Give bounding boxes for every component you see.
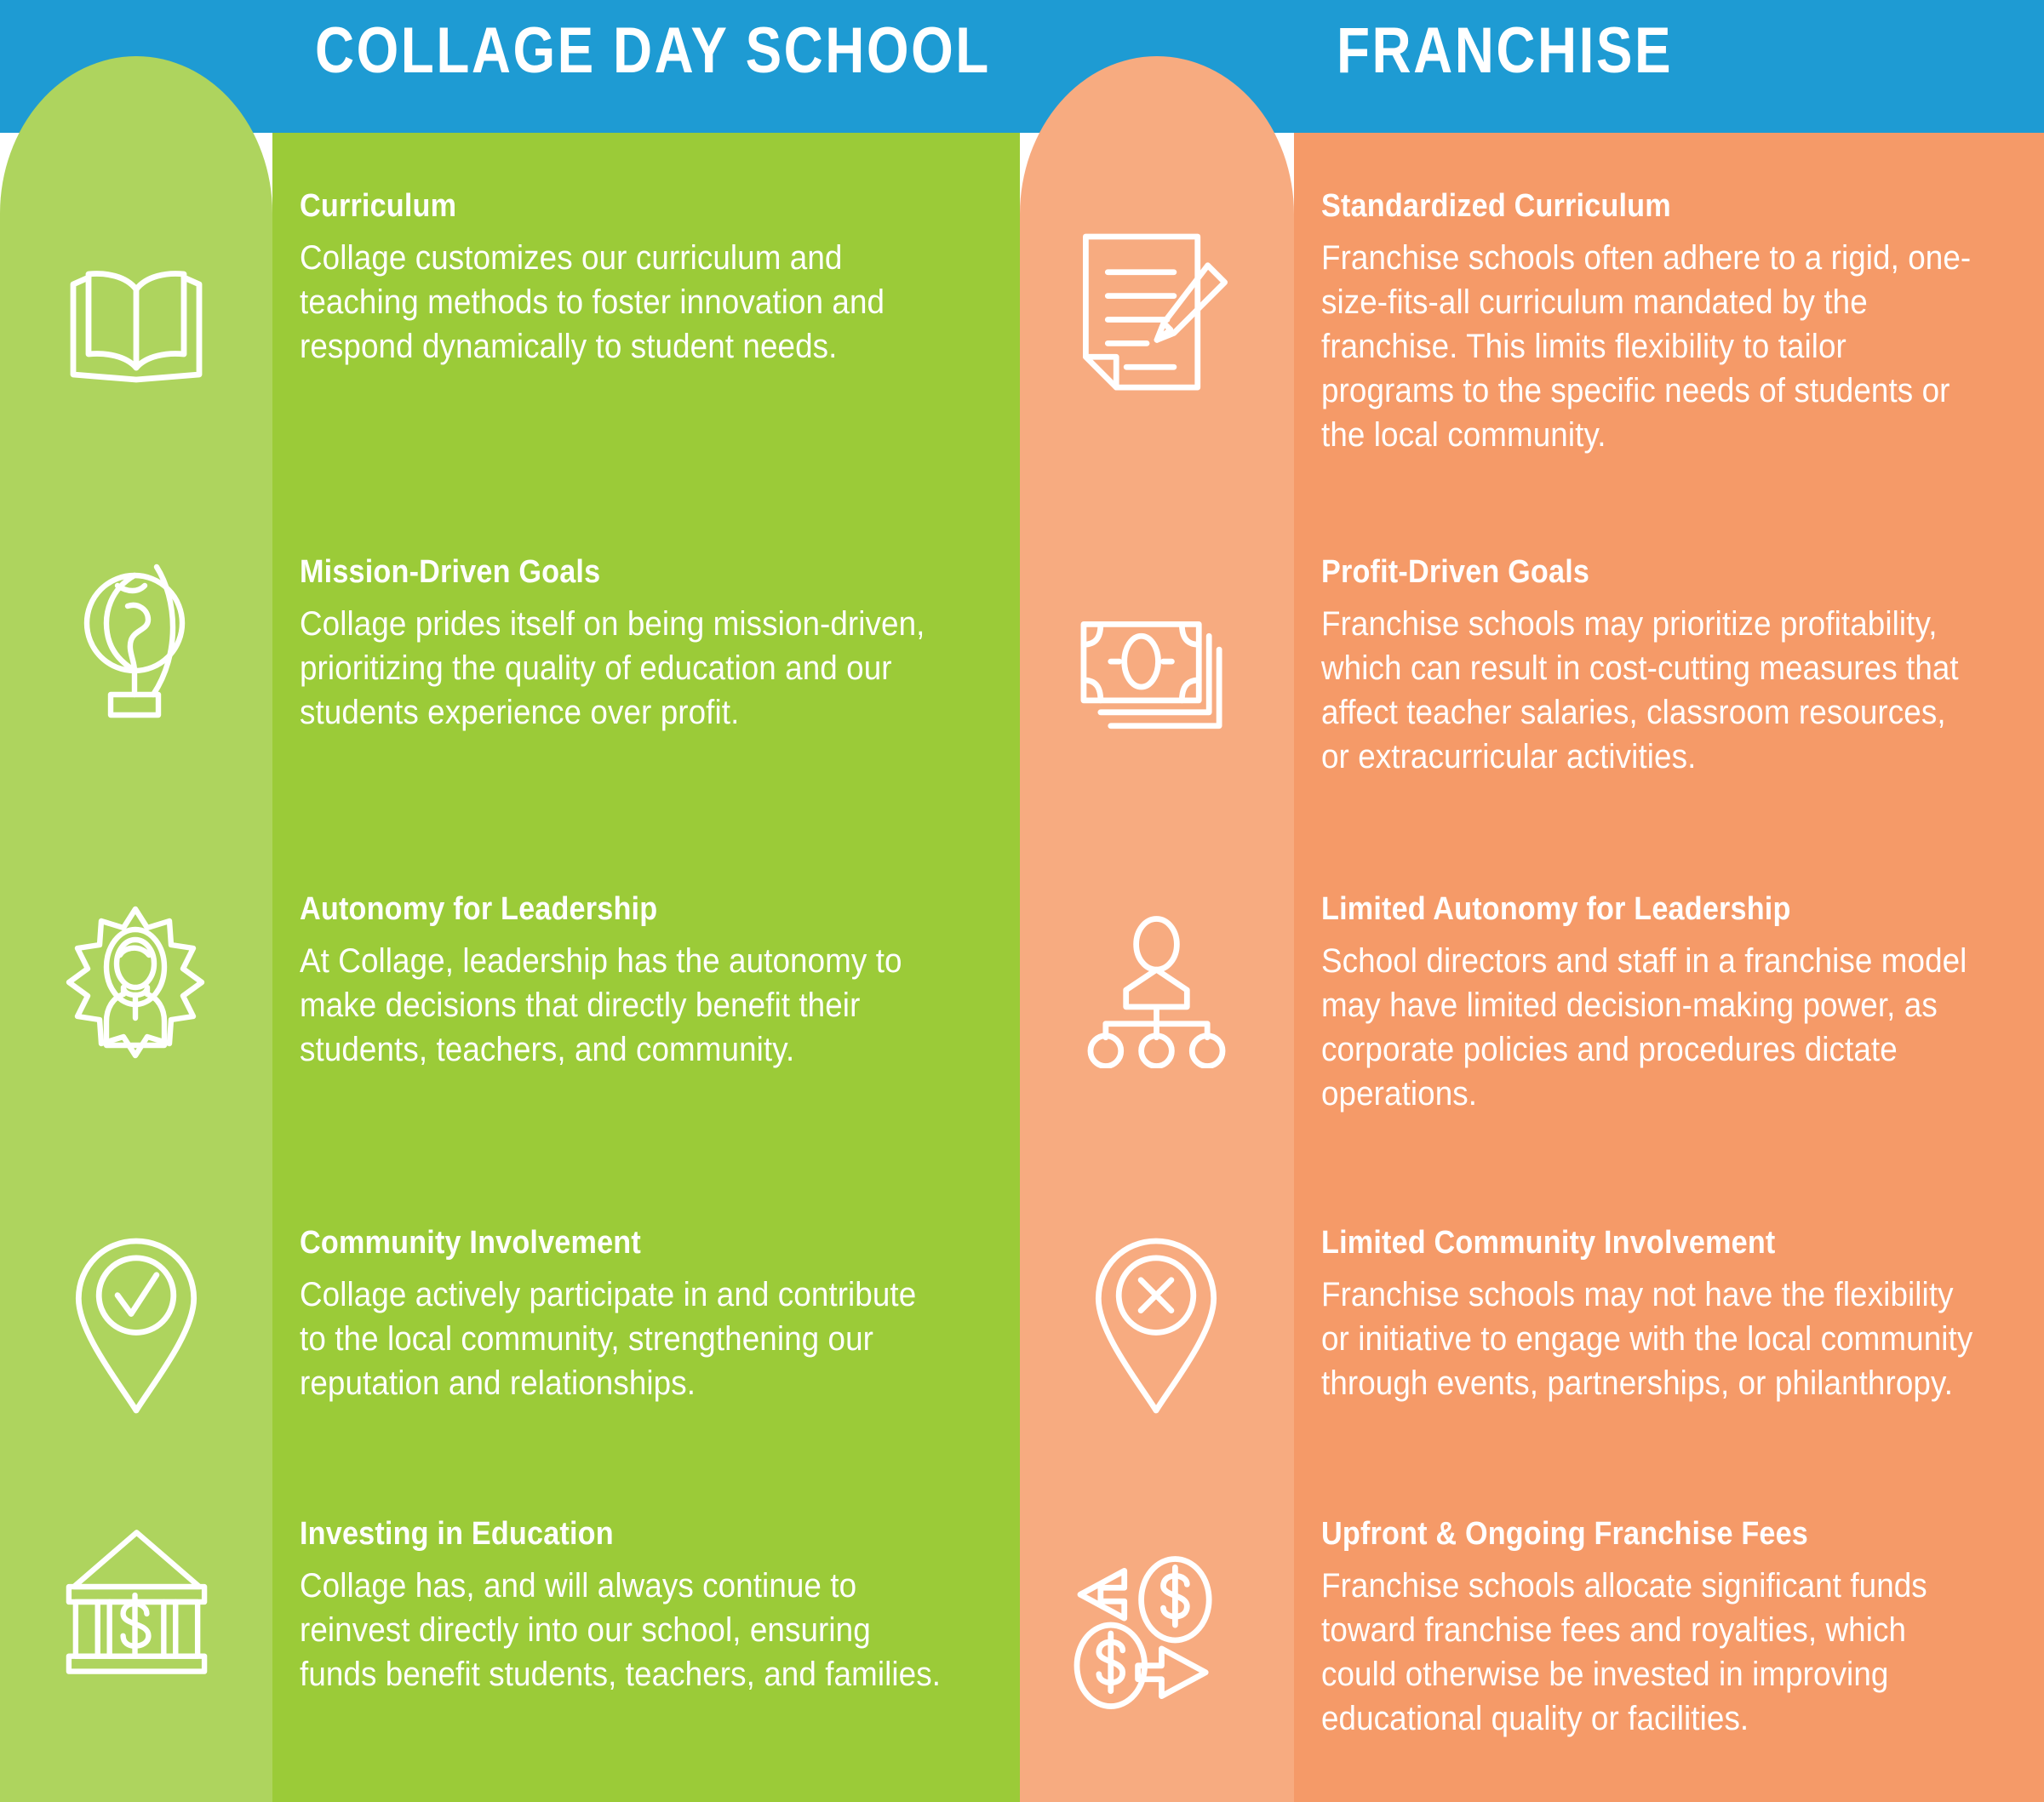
- person-in-gear-icon: [0, 902, 272, 1064]
- right-card-limited-autonomy-for-leadership: Limited Autonomy for Leadership School d…: [1321, 892, 2036, 1116]
- card-title: Profit-Driven Goals: [1321, 555, 1965, 590]
- card-body: Franchise schools may prioritize profita…: [1321, 602, 1979, 779]
- document-pencil-icon: [1020, 228, 1292, 403]
- open-book-icon: [0, 255, 272, 392]
- right-card-profit-driven-goals: Profit-Driven Goals Franchise schools ma…: [1321, 555, 2036, 779]
- right-card-upfront-ongoing-franchise-fees: Upfront & Ongoing Franchise Fees Franchi…: [1321, 1517, 2036, 1741]
- header-band: [0, 0, 2044, 133]
- left-card-investing-in-education: Investing in Education Collage has, and …: [300, 1517, 998, 1696]
- globe-icon: [0, 562, 272, 724]
- left-card-mission-driven-goals: Mission-Driven Goals Collage prides itse…: [300, 555, 998, 735]
- card-body: Collage has, and will always continue to…: [300, 1564, 942, 1696]
- infographic-canvas: COLLAGE DAY SCHOOL FRANCHISE Curriculum …: [0, 0, 2044, 1802]
- card-title: Autonomy for Leadership: [300, 892, 928, 927]
- right-column-title: FRANCHISE: [1337, 19, 1673, 83]
- left-card-curriculum: Curriculum Collage customizes our curric…: [300, 189, 998, 369]
- left-column-title: COLLAGE DAY SCHOOL: [315, 19, 991, 83]
- map-pin-check-icon: [0, 1234, 272, 1417]
- card-body: Collage prides itself on being mission-d…: [300, 602, 942, 735]
- card-body: At Collage, leadership has the autonomy …: [300, 939, 942, 1072]
- right-card-standardized-curriculum: Standardized Curriculum Franchise school…: [1321, 189, 2036, 457]
- card-body: Franchise schools allocate significant f…: [1321, 1564, 1979, 1741]
- left-card-community-involvement: Community Involvement Collage actively p…: [300, 1226, 998, 1405]
- card-body: Collage customizes our curriculum and te…: [300, 236, 942, 369]
- card-body: School directors and staff in a franchis…: [1321, 939, 1979, 1116]
- left-card-autonomy-for-leadership: Autonomy for Leadership At Collage, lead…: [300, 892, 998, 1072]
- card-title: Limited Community Involvement: [1321, 1226, 1965, 1261]
- card-body: Franchise schools often adhere to a rigi…: [1321, 236, 1979, 457]
- card-title: Upfront & Ongoing Franchise Fees: [1321, 1517, 1965, 1552]
- map-pin-x-icon: [1020, 1234, 1292, 1417]
- card-title: Standardized Curriculum: [1321, 189, 1965, 224]
- card-title: Limited Autonomy for Leadership: [1321, 892, 1965, 927]
- card-body: Franchise schools may not have the flexi…: [1321, 1273, 1979, 1405]
- card-title: Community Involvement: [300, 1226, 928, 1261]
- money-transfer-icon: [1020, 1553, 1292, 1715]
- card-title: Curriculum: [300, 189, 928, 224]
- card-title: Mission-Driven Goals: [300, 555, 928, 590]
- card-title: Investing in Education: [300, 1517, 928, 1552]
- card-body: Collage actively participate in and cont…: [300, 1273, 942, 1405]
- right-card-limited-community-involvement: Limited Community Involvement Franchise …: [1321, 1226, 2036, 1405]
- org-chart-icon: [1020, 915, 1292, 1068]
- bank-dollar-icon: [0, 1524, 272, 1677]
- cash-stack-icon: [1020, 617, 1292, 745]
